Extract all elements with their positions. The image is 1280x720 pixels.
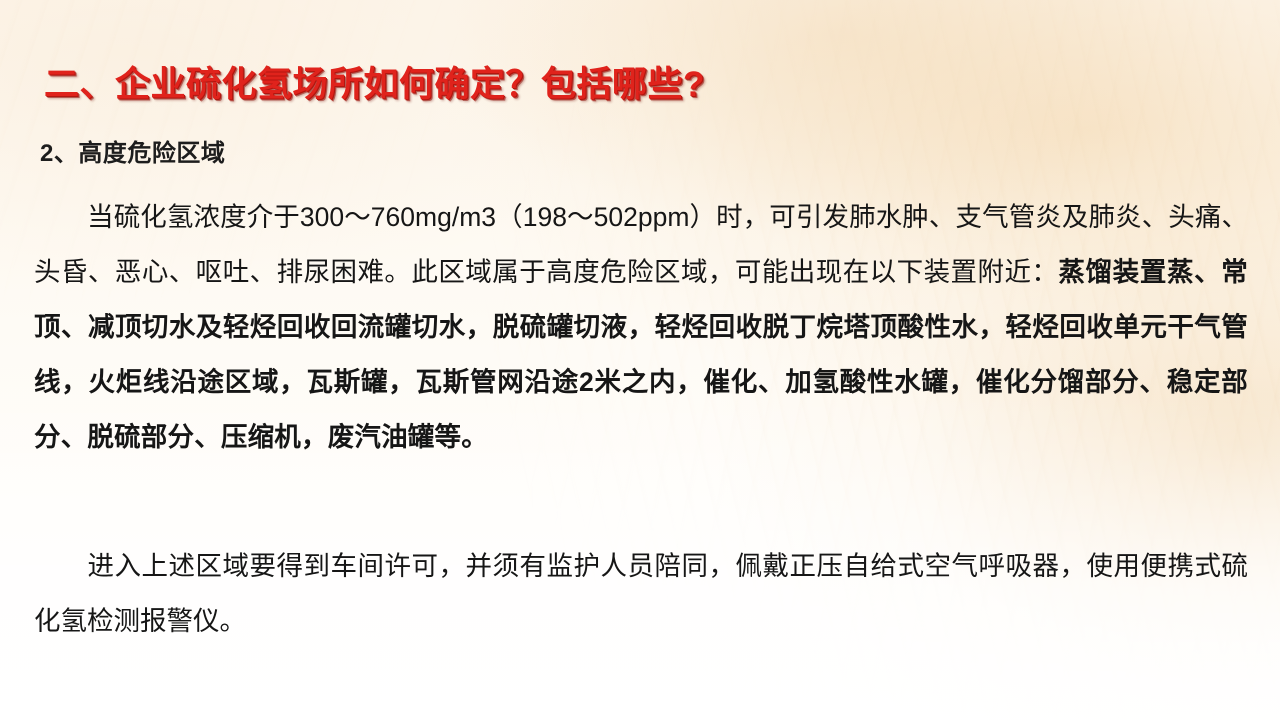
body-paragraph-1: 当硫化氢浓度介于300～760mg/m3（198～502ppm）时，可引发肺水肿…	[34, 190, 1248, 465]
body-paragraph-2: 进入上述区域要得到车间许可，并须有监护人员陪同，佩戴正压自给式空气呼吸器，使用便…	[34, 539, 1248, 649]
slide-title: 二、企业硫化氢场所如何确定？包括哪些?	[44, 56, 705, 107]
slide-canvas: 二、企业硫化氢场所如何确定？包括哪些? 2、高度危险区域 当硫化氢浓度介于300…	[0, 0, 1280, 720]
section-heading: 2、高度危险区域	[40, 133, 225, 168]
paragraph-2-text: 进入上述区域要得到车间许可，并须有监护人员陪同，佩戴正压自给式空气呼吸器，使用便…	[34, 551, 1248, 636]
slide-content: 二、企业硫化氢场所如何确定？包括哪些? 2、高度危险区域 当硫化氢浓度介于300…	[0, 0, 1280, 720]
